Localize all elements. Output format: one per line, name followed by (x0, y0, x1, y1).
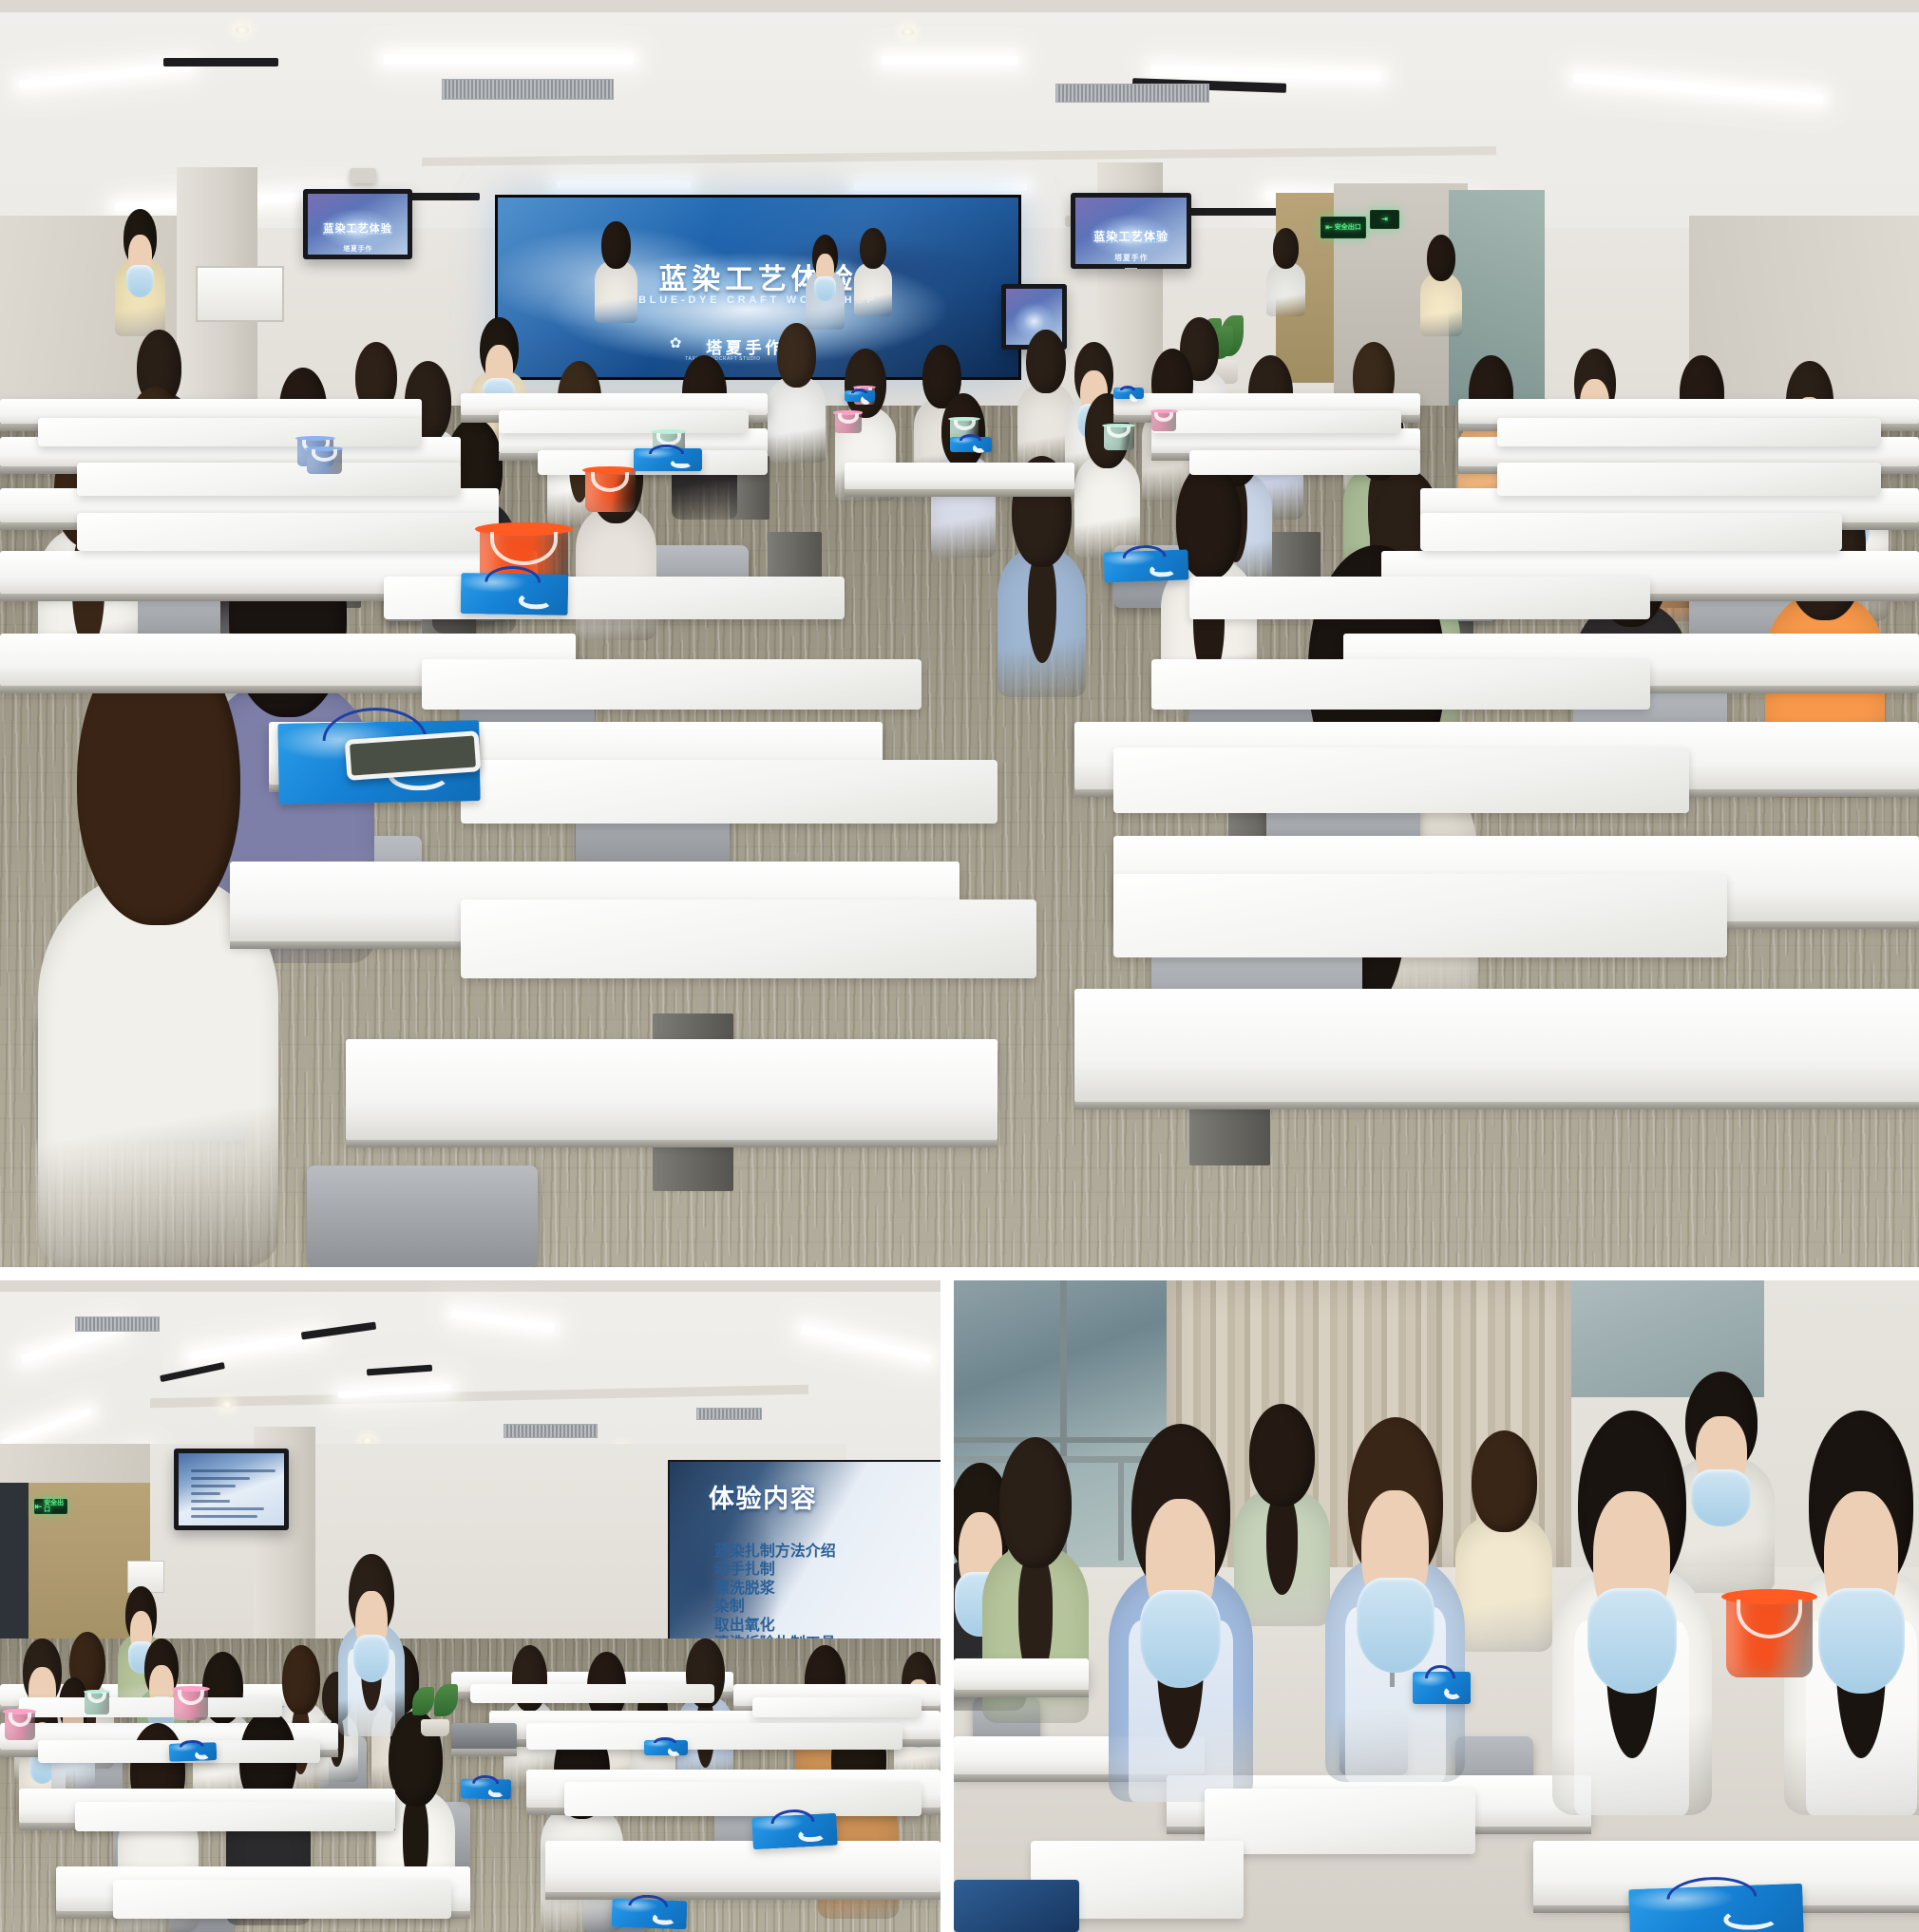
person (768, 323, 826, 463)
table-cloth (1420, 513, 1842, 551)
person (595, 221, 636, 323)
person-head (777, 323, 816, 387)
gift-bag-cord (654, 1737, 676, 1744)
wall-monitor-left-brand: 塔夏手作 (308, 244, 408, 254)
chair (307, 1165, 537, 1267)
content-slide-item: 漂洗脱浆 (714, 1580, 851, 1599)
table-cloth (499, 410, 749, 433)
gift-bag-logo (861, 395, 870, 405)
face-mask (1140, 1590, 1221, 1688)
person-head (1472, 1430, 1537, 1532)
person (854, 228, 892, 316)
gift-bag (460, 573, 568, 616)
person (115, 209, 165, 335)
exit-sign-label: 安全出口 (1335, 224, 1361, 231)
person (806, 235, 844, 330)
gift-bag-logo (652, 1912, 676, 1925)
table-cloth (422, 659, 921, 710)
person (541, 1723, 623, 1932)
exit-sign-glyph-bl: ⇤ (35, 1503, 43, 1511)
gutter-vertical (940, 1267, 954, 1932)
gutter-horizontal (0, 1267, 1919, 1280)
wall-monitor-content (174, 1449, 289, 1530)
table-cloth (1189, 577, 1650, 619)
person-torso (576, 506, 656, 640)
indigo-tied-cloth (954, 1880, 1079, 1932)
desk (545, 1841, 940, 1893)
gift-bag-logo (671, 459, 693, 468)
table-cloth (1113, 748, 1689, 813)
photo-collage: 蓝染工艺体验 BLUE-DYE CRAFT WORKSHOP ✿ 塔夏手作 TA… (0, 0, 1919, 1932)
gift-bag (1413, 1672, 1471, 1704)
content-slide-item: 取出氧化 (714, 1617, 851, 1636)
led-strip (854, 183, 1027, 191)
table-cloth (461, 760, 998, 824)
wall-monitor-content-screen (179, 1453, 284, 1525)
content-slide-item: 动手扎制 (714, 1561, 851, 1580)
gift-bag-logo (1149, 563, 1176, 577)
led-strip (883, 56, 1016, 65)
brand-logo-mark: ✿ (670, 334, 682, 351)
training-room-bl: ⇤ 安全出口 体验内容 蓝染扎制方法介绍动手扎制漂洗脱浆染制取出氧化清洗拆除扎制… (0, 1280, 940, 1932)
led-strip-off (163, 58, 278, 66)
gift-bag (845, 390, 875, 402)
exit-sign-glyph: ⇤ (1325, 223, 1333, 232)
person-ponytail (1266, 1493, 1298, 1595)
table-cloth (1151, 410, 1401, 433)
person-torso (595, 260, 636, 323)
table-cloth (19, 1697, 282, 1717)
person-head (601, 221, 630, 268)
person (1420, 235, 1462, 336)
plant-leaf (412, 1687, 434, 1716)
ceiling-edge-bl (0, 1280, 940, 1292)
gift-bag-logo (488, 1788, 504, 1797)
dye-bucket (5, 1711, 35, 1741)
gift-bag (611, 1898, 687, 1929)
gift-bag-logo (668, 1747, 682, 1756)
face-mask (814, 276, 836, 301)
table-cloth (38, 418, 422, 445)
person-torso (768, 376, 826, 463)
face-mask (353, 1635, 390, 1682)
gift-bag-logo (973, 444, 986, 453)
wall-monitor-left-screen: 蓝染工艺体验 BLUE-DYE CRAFT WORKSHOP 塔夏手作 (308, 194, 408, 256)
monitor-mount-arm-bl (227, 1530, 237, 1531)
air-vent-bl (696, 1408, 762, 1420)
table-cloth (75, 1802, 395, 1832)
table-cloth (1497, 463, 1881, 496)
gift-bag-cord (1120, 386, 1136, 390)
gift-bag (169, 1742, 217, 1762)
slide-title: 蓝染工艺体验 (498, 256, 1017, 297)
desk (845, 463, 1074, 490)
gift-bag (634, 448, 703, 471)
wall-monitor-right: 蓝染工艺体验 BLUE-DYE CRAFT WORKSHOP 塔夏手作 (1071, 193, 1191, 269)
table-cloth (461, 900, 1036, 978)
exit-sign-right: ⇥ (1370, 210, 1398, 229)
table-cloth (470, 1684, 714, 1702)
desk (346, 1039, 998, 1141)
gift-bag-logo (1723, 1907, 1779, 1931)
gift-bag-logo (519, 592, 553, 610)
content-slide-item: 染制 (714, 1598, 851, 1617)
air-vent-bl (503, 1424, 598, 1438)
person (1455, 1430, 1552, 1652)
person-torso (1455, 1514, 1552, 1652)
face-mask (1357, 1578, 1435, 1673)
table-cloth (1497, 418, 1881, 445)
panel-participants-closeup (954, 1280, 1919, 1932)
person-head (1427, 235, 1455, 281)
gift-bag-cord (959, 434, 981, 440)
table-cloth (564, 1782, 921, 1816)
face-mask (1587, 1588, 1677, 1694)
person (338, 1554, 404, 1736)
dye-bucket (1104, 425, 1134, 450)
person-torso (1266, 262, 1304, 317)
gift-bag-logo (798, 1828, 826, 1843)
led-strip (384, 54, 634, 64)
desk (954, 1658, 1089, 1691)
face-mask (126, 265, 154, 298)
content-slide-header: 体验内容 (709, 1478, 817, 1515)
gift-bag (1628, 1884, 1804, 1932)
training-room-main: 蓝染工艺体验 BLUE-DYE CRAFT WORKSHOP ✿ 塔夏手作 TA… (0, 0, 1919, 1267)
wall-monitor-right-subtitle: BLUE-DYE CRAFT WORKSHOP (1075, 239, 1187, 244)
person (1109, 1424, 1253, 1802)
table-cloth (1151, 659, 1650, 710)
slide-subtitle: BLUE-DYE CRAFT WORKSHOP (498, 294, 1017, 306)
wall-monitor-right-screen: 蓝染工艺体验 BLUE-DYE CRAFT WORKSHOP 塔夏手作 (1075, 198, 1187, 264)
led-strip (557, 181, 691, 189)
wall-monitor-left-subtitle: BLUE-DYE CRAFT WORKSHOP (308, 231, 408, 236)
person-head (860, 228, 885, 269)
panel-main-wide-room-view: 蓝染工艺体验 BLUE-DYE CRAFT WORKSHOP ✿ 塔夏手作 TA… (0, 0, 1919, 1267)
exit-sign-label-bl: 安全出口 (44, 1500, 66, 1513)
exit-sign-bl: ⇤ 安全出口 (34, 1499, 68, 1514)
ceiling-edge (0, 0, 1919, 12)
person-head (1249, 1404, 1315, 1506)
gift-bag (751, 1812, 838, 1849)
person-head (1273, 228, 1299, 269)
table-cloth (77, 513, 499, 551)
dye-bucket (1726, 1593, 1813, 1677)
table-cloth (113, 1880, 451, 1919)
face-mask (1818, 1588, 1905, 1694)
plant-presenter (409, 1684, 461, 1736)
desk (1074, 989, 1919, 1103)
person-head (1026, 330, 1065, 393)
phone-screen (350, 735, 476, 775)
wall-monitor-right-brand: 塔夏手作 (1075, 253, 1187, 263)
dye-bucket (307, 447, 341, 474)
downlight (236, 26, 249, 34)
gift-bag (461, 1778, 512, 1799)
gift-bag (1103, 550, 1188, 583)
person-head (999, 1437, 1072, 1569)
person-torso (854, 262, 892, 317)
gift-bag-logo (195, 1751, 210, 1761)
training-room-br (954, 1280, 1919, 1932)
table-cloth (526, 1723, 902, 1749)
table-cloth (1189, 450, 1419, 476)
presenter-table (451, 1723, 517, 1749)
table-cloth (752, 1697, 921, 1717)
person-head (845, 349, 886, 419)
plant-pot (421, 1719, 450, 1737)
air-vent (1055, 84, 1209, 103)
air-vent-bl (75, 1316, 160, 1332)
dye-bucket (835, 412, 862, 434)
person-ponytail (1028, 553, 1056, 664)
person (1325, 1417, 1465, 1782)
dye-bucket (585, 469, 636, 512)
wall-monitor-left: 蓝染工艺体验 BLUE-DYE CRAFT WORKSHOP 塔夏手作 (303, 189, 412, 260)
monitor-mount-arm (1125, 268, 1137, 269)
table-cloth (1205, 1789, 1474, 1854)
gift-bag-cord (851, 388, 867, 393)
exit-sign-glyph-2: ⇥ (1381, 216, 1388, 223)
wall-monitor-content-lines (191, 1469, 275, 1523)
person-torso (1420, 273, 1462, 335)
gift-bag (1113, 388, 1144, 399)
exit-sign-left: ⇤ 安全出口 (1320, 217, 1366, 238)
table-cloth (1113, 874, 1727, 957)
dye-bucket (1151, 410, 1176, 430)
gift-bag (644, 1740, 688, 1755)
air-vent (442, 79, 615, 100)
person (1552, 1411, 1712, 1814)
panel-presenter-and-audience: ⇤ 安全出口 体验内容 蓝染扎制方法介绍动手扎制漂洗脱浆染制取出氧化清洗拆除扎制… (0, 1280, 940, 1932)
ceiling-projector (350, 168, 376, 183)
dye-bucket (85, 1691, 109, 1714)
downlight-bl (221, 1401, 233, 1409)
whiteboard (196, 266, 284, 322)
dye-bucket (174, 1688, 208, 1720)
person (1266, 228, 1304, 316)
table-cloth (77, 463, 461, 496)
content-slide-item: 蓝染扎制方法介绍 (714, 1543, 851, 1562)
plant-leaf (434, 1684, 458, 1716)
person (38, 634, 278, 1267)
table-cloth (384, 577, 845, 619)
gift-bag (950, 437, 992, 452)
gift-bag-logo (1444, 1686, 1463, 1699)
